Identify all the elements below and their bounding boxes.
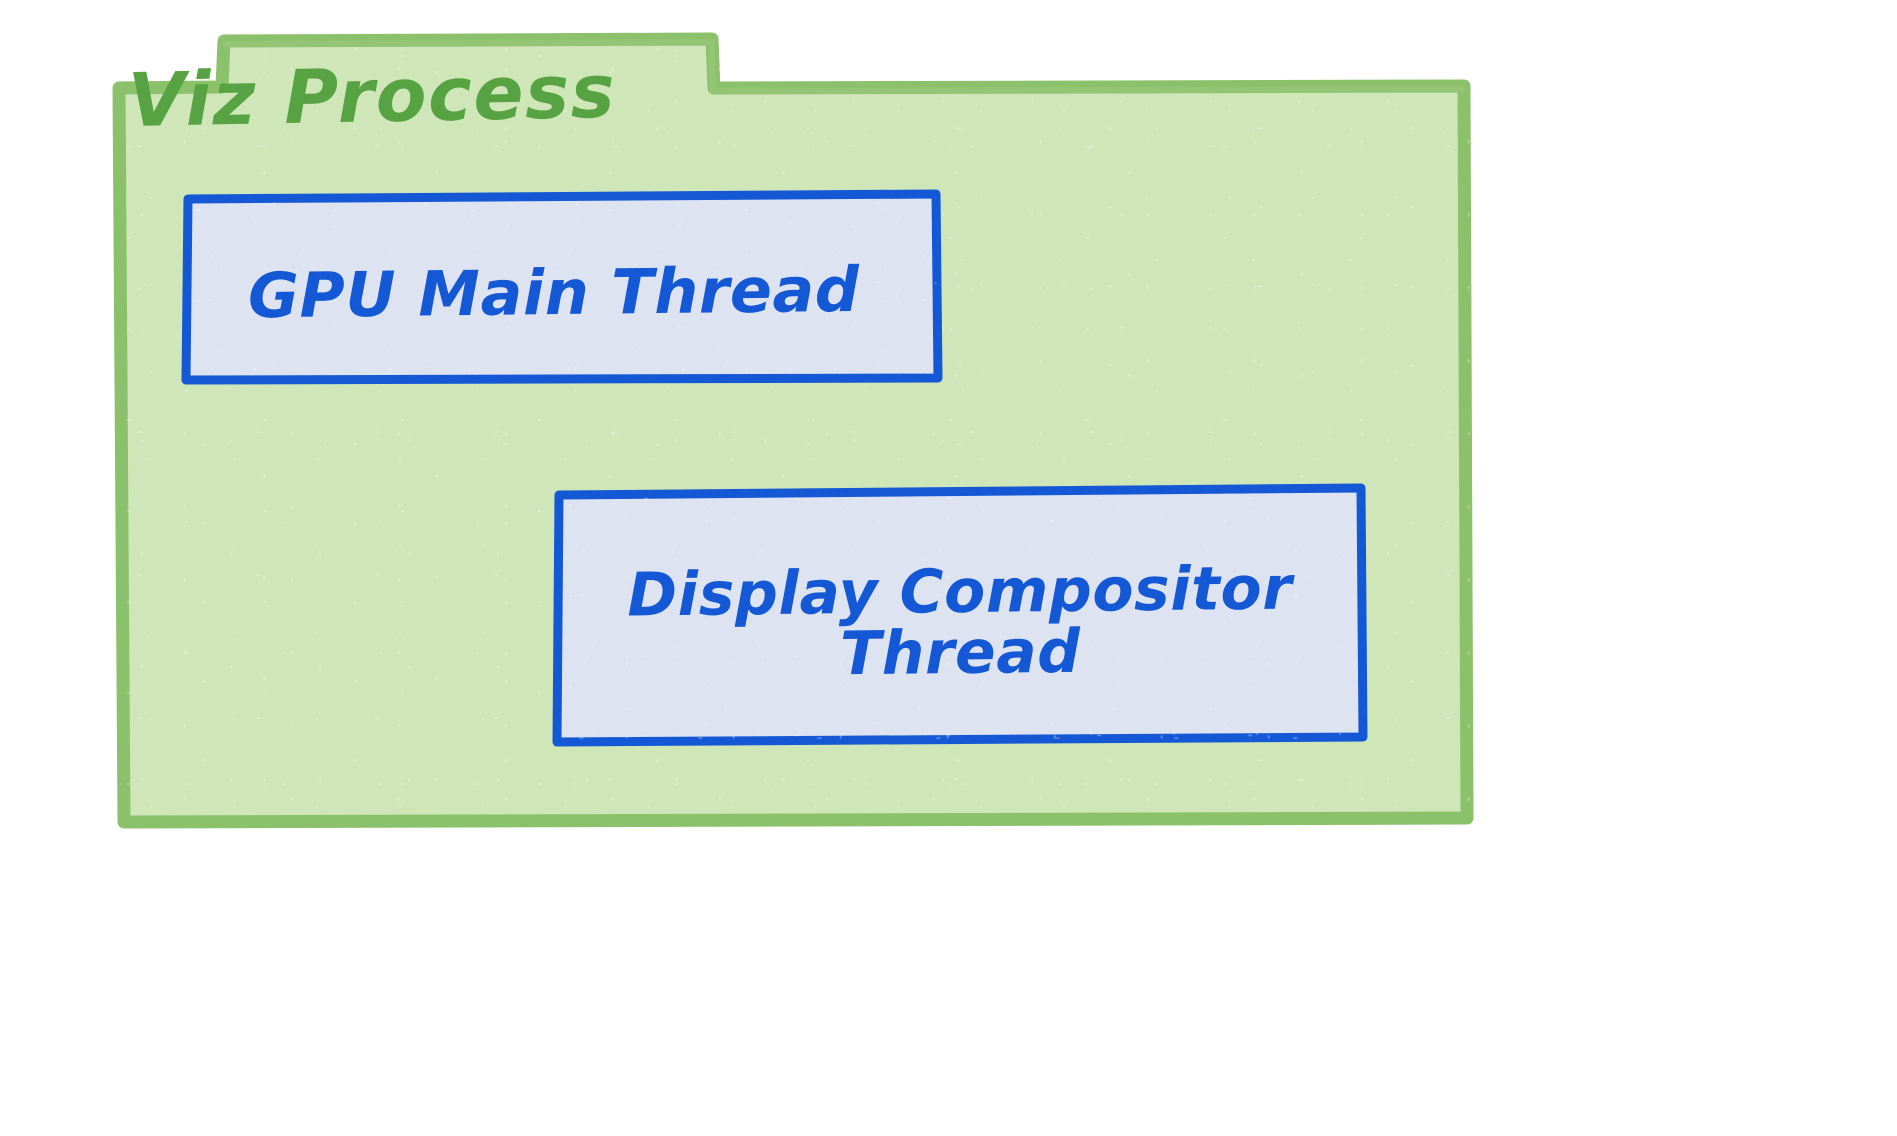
thread-box-gpu-main-thread[interactable]: GPU Main Thread [182, 190, 942, 384]
thread-box-display-compositor-thread[interactable]: Display Compositor Thread [554, 485, 1366, 745]
diagram-canvas: Viz Process GPU Main Thread Display Comp… [0, 0, 1897, 1136]
gpu-main-thread-label: GPU Main Thread [181, 192, 943, 394]
package-title: Viz Process [127, 47, 649, 145]
display-compositor-thread-label: Display Compositor Thread [553, 489, 1368, 757]
